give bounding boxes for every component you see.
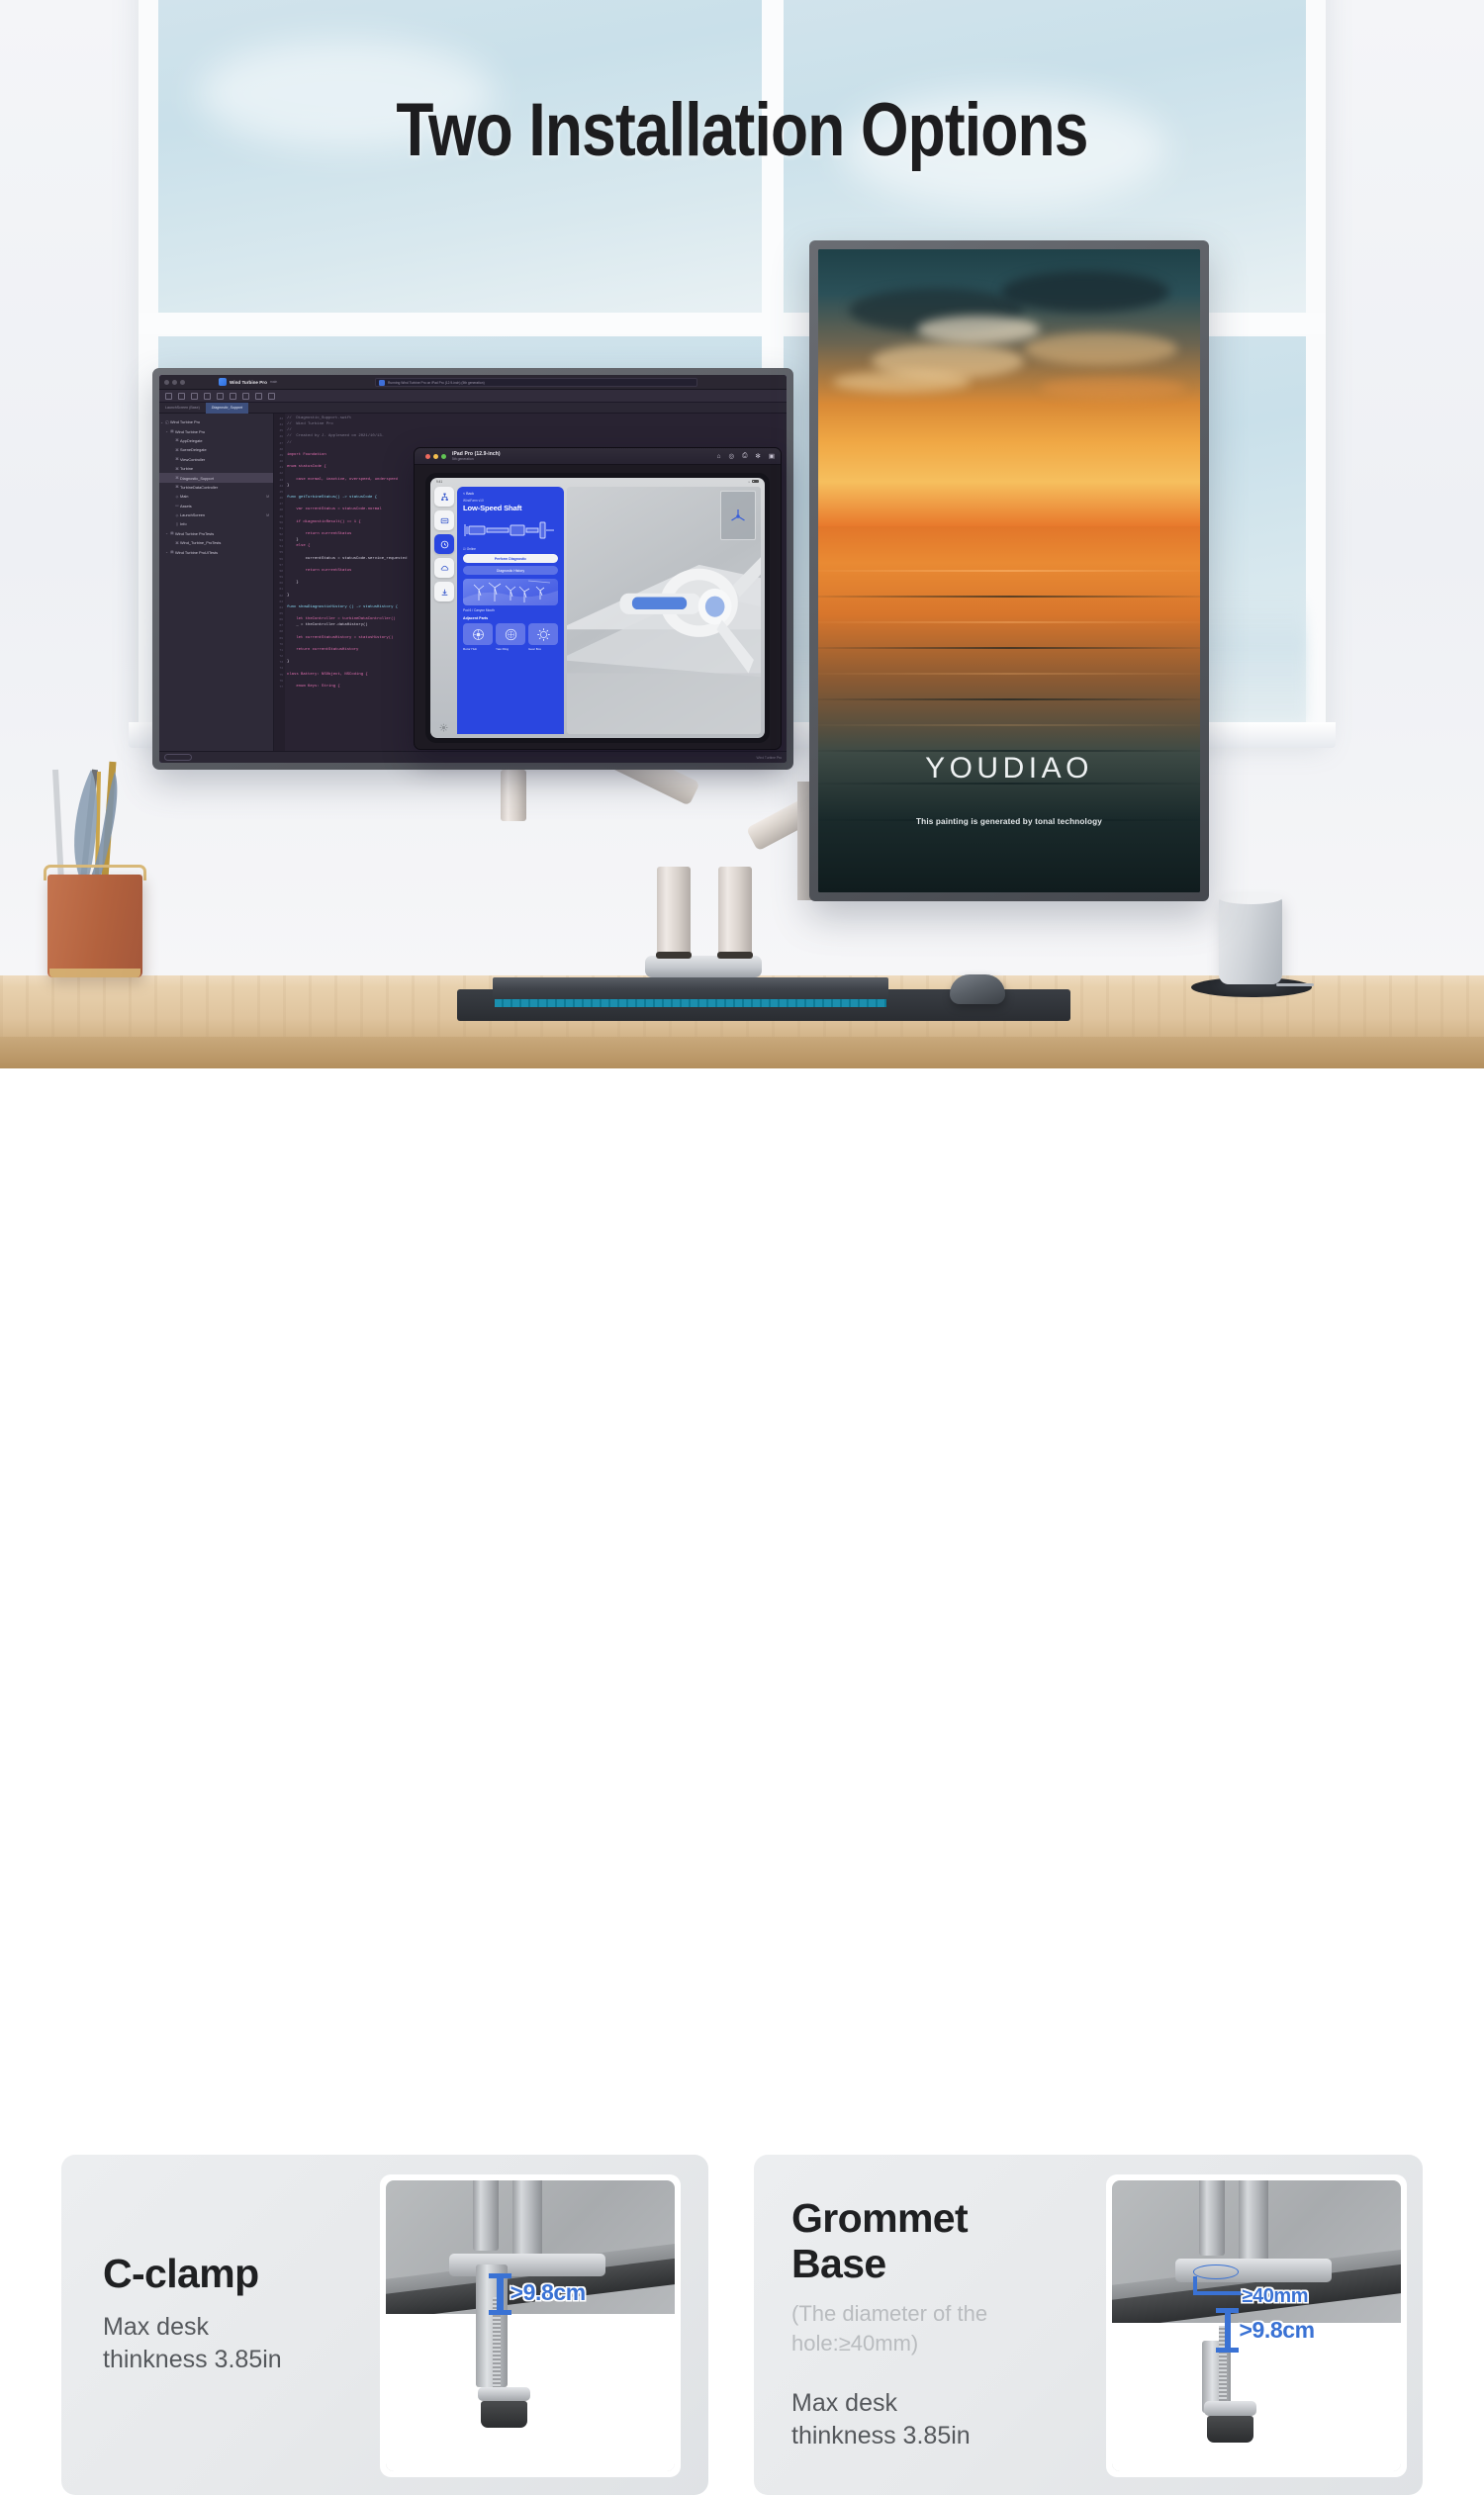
adjacent-parts-list: Rotor HubYaw RingGear Box — [463, 623, 558, 651]
part-label: Yaw Ring — [496, 647, 525, 651]
keyboard-accent-strip — [495, 999, 886, 1007]
breakpoint-icon[interactable] — [255, 393, 262, 400]
panel-kicker: WindFarm v10 — [463, 499, 558, 503]
mount-post-left — [1199, 2180, 1225, 2256]
cloud-icon — [440, 564, 449, 573]
tab-launchscreen[interactable]: LaunchScreen (Base) — [159, 403, 206, 414]
diagnostic-history-button[interactable]: Diagnostic History — [463, 566, 558, 575]
test-icon[interactable] — [230, 393, 236, 400]
install-options-section: C-clamp Max desk thinkness 3.85in >9.8cm… — [0, 1068, 1484, 1443]
mount-post-right — [718, 867, 752, 958]
gear-icon — [536, 627, 551, 642]
modified-badge: M — [266, 513, 269, 517]
navigator-row[interactable]: ◇MainM — [159, 492, 273, 501]
rail-button-clock[interactable] — [434, 534, 454, 554]
dimension-cap-top — [489, 2273, 511, 2278]
part-tile — [496, 623, 525, 645]
line-number-gutter: 3334353637383940414243444546474849505152… — [274, 414, 285, 751]
footer-file-label: Wind Turbine Pro — [757, 756, 782, 760]
more-icon[interactable]: ▣ — [769, 452, 775, 460]
adjacent-part-card[interactable]: Yaw Ring — [496, 623, 525, 651]
c-clamp-photo: >9.8cm — [380, 2174, 681, 2477]
desk-mug-rim — [1219, 891, 1282, 904]
page-title: Two Installation Options — [134, 87, 1350, 173]
navigator-row[interactable]: ⌄◱Wind Turbine Pro — [159, 417, 273, 426]
ios-clock: 9:41 — [436, 480, 442, 484]
library-icon[interactable] — [191, 393, 198, 400]
record-icon[interactable]: ⎙ — [742, 452, 747, 460]
navigator-row[interactable]: ◇LaunchScreenM — [159, 510, 273, 519]
app-side-rail — [434, 487, 454, 734]
debug-icon[interactable] — [242, 393, 249, 400]
ipad-bezel: 9:41 ⌁ — [425, 473, 770, 743]
clamp-pressure-plate — [1204, 2401, 1256, 2416]
line-number: 77 — [274, 684, 283, 690]
navigator-row[interactable]: ⌄▤Wind Turbine ProUITests — [159, 547, 273, 556]
navigator-row-label: Diagnostic_Support — [180, 476, 214, 481]
perform-diagnostic-button[interactable]: Perform Diagnostic — [463, 554, 558, 563]
navigator-row[interactable]: ⌘SceneDelegate — [159, 445, 273, 454]
navigator-row-label: LaunchScreen — [180, 512, 205, 517]
desk-edge — [0, 1037, 1484, 1068]
tab-diagnostic-support[interactable]: Diagnostic_Support — [206, 403, 248, 414]
portrait-brand-label: YOUDIAO — [818, 752, 1200, 785]
inbox-icon — [440, 516, 449, 525]
navigator-row[interactable]: ⌘AppDelegate — [159, 436, 273, 445]
battery-icon — [752, 480, 759, 483]
download-icon — [440, 588, 449, 597]
navigator-row-label: TurbineDataController — [180, 485, 218, 490]
screenshot-icon[interactable]: ◎ — [729, 452, 735, 460]
mount-post-right — [512, 2180, 541, 2256]
mount-collar-right — [717, 952, 753, 959]
navigator-row[interactable]: ⌘Turbine — [159, 464, 273, 473]
dimension-line-vertical — [1225, 2311, 1231, 2352]
window-traffic-lights[interactable] — [164, 380, 185, 385]
xcode-toolbar — [159, 390, 787, 403]
pencil-cup-foot — [49, 969, 140, 977]
xcode-status-text: Running Wind Turbine Pro on iPad Pro (12… — [388, 381, 485, 385]
navigator-row-label: Main — [180, 494, 188, 499]
mount-post-left — [473, 2180, 499, 2251]
dimension-cap-bottom — [1216, 2348, 1239, 2353]
ring-icon — [504, 627, 518, 642]
simulator-titlebar: iPad Pro (12.9-inch) 5th generation ⌂ ◎ … — [415, 448, 781, 465]
xcode-titlebar: Wind Turbine Pro main Running Wind Turbi… — [159, 375, 787, 390]
adjacent-parts-title: Adjacent Parts — [463, 616, 558, 620]
tab-label: LaunchScreen (Base) — [165, 406, 200, 410]
adjacent-part-card[interactable]: Rotor Hub — [463, 623, 493, 651]
grommet-note: (The diameter of the hole:≥40mm) — [791, 2299, 1088, 2359]
rail-button-download[interactable] — [434, 582, 454, 601]
c-clamp-body: Max desk thinkness 3.85in — [103, 2311, 390, 2376]
run-destination-icon — [379, 380, 385, 386]
mini-map-overlay[interactable] — [720, 491, 756, 540]
navigator-row-label: AppDelegate — [180, 438, 203, 443]
clamp-pressure-plate — [478, 2387, 530, 2402]
mount-base — [645, 956, 762, 977]
windfarm-thumbnail-icon — [463, 579, 558, 605]
navigator-row-label: Wind Turbine Pro — [175, 429, 205, 434]
grommet-clearance-label: >9.8cm — [1239, 2317, 1314, 2344]
settings-icon[interactable]: ✻ — [755, 452, 760, 460]
shaft-diagram-icon — [463, 517, 558, 543]
arm-riser-left — [501, 770, 526, 821]
hole-dimension-line — [1193, 2291, 1243, 2295]
hero-scene: Two Installation Options — [0, 0, 1484, 1068]
grommet-hole-label: ≥40mm — [1242, 2285, 1308, 2308]
portrait-screen: YOUDIAO This painting is generated by to… — [818, 249, 1200, 892]
mount-collar-left — [656, 952, 692, 959]
ios-status-right: ⌁ — [748, 480, 759, 484]
part-diagram — [463, 517, 558, 543]
wifi-icon: ⌁ — [748, 480, 750, 484]
filter-input[interactable] — [164, 754, 192, 761]
online-status: ☑ Online — [463, 547, 558, 551]
rail-button-inbox[interactable] — [434, 510, 454, 530]
navigator-row[interactable]: ⌄▤Wind Turbine Pro — [159, 426, 273, 435]
grommet-photo: ≥40mm >9.8cm — [1106, 2174, 1407, 2477]
navigator-row-label: Assets — [180, 504, 192, 508]
c-clamp-heading: C-clamp — [103, 2252, 390, 2297]
turbine-marker-icon — [730, 508, 746, 524]
rail-button-hierarchy[interactable] — [434, 487, 454, 507]
navigator-row-label: ViewController — [180, 457, 205, 462]
hub-icon — [471, 627, 486, 642]
simulator-device-generation: 5th generation — [452, 457, 501, 461]
clock-icon — [440, 540, 449, 549]
navigator-row-label: Wind Turbine ProTests — [175, 531, 214, 536]
xcode-status-footer: Wind Turbine Pro — [159, 751, 787, 763]
part-detail-panel: < Back WindFarm v10 Low-Speed Shaft — [457, 487, 564, 734]
simulator-window: iPad Pro (12.9-inch) 5th generation ⌂ ◎ … — [414, 447, 782, 750]
tab-label: Diagnostic_Support — [212, 406, 242, 410]
dimension-cap-bottom — [489, 2310, 511, 2315]
search-icon[interactable] — [204, 393, 211, 400]
part-label: Rotor Hub — [463, 647, 493, 651]
navigator-row[interactable]: ▭Assets — [159, 502, 273, 510]
desk-cable — [1276, 983, 1314, 986]
photo-white-backdrop — [1112, 2323, 1401, 2471]
simulator-traffic-lights[interactable] — [425, 454, 446, 459]
home-icon[interactable]: ⌂ — [717, 453, 721, 460]
dimension-cap-top — [1216, 2308, 1239, 2313]
grommet-hole-outline — [1193, 2264, 1240, 2279]
clamp-foot — [1207, 2416, 1253, 2442]
c-clamp-dimension-label: >9.8cm — [510, 2279, 586, 2306]
ocean-surface — [818, 526, 1200, 893]
desk-mug — [1219, 897, 1282, 984]
grommet-heading: Grommet Base — [791, 2196, 1088, 2287]
mouse[interactable] — [950, 974, 1005, 1004]
report-icon[interactable] — [268, 393, 275, 400]
dimension-line-vertical — [497, 2276, 503, 2314]
navigator-row-label: SceneDelegate — [180, 447, 207, 452]
navigator-row[interactable]: ⌘TurbineDataController — [159, 483, 273, 492]
warning-icon[interactable] — [217, 393, 224, 400]
site-thumbnail[interactable] — [463, 579, 558, 605]
portrait-tagline: This painting is generated by tonal tech… — [818, 817, 1200, 826]
navigator-row[interactable]: ▯Info — [159, 519, 273, 528]
clamp-foot — [481, 2401, 527, 2427]
navigator-row-label: Info — [180, 521, 187, 526]
portrait-monitor: YOUDIAO This painting is generated by to… — [809, 240, 1209, 901]
adjacent-part-card[interactable]: Gear Box — [528, 623, 558, 651]
cloud-layer — [818, 249, 1200, 526]
navigator-row[interactable]: ⌘Diagnostic_Support — [159, 473, 273, 482]
xcode-tab-bar: LaunchScreen (Base) Diagnostic_Support — [159, 403, 787, 414]
part-tile — [463, 623, 493, 645]
panel-heading: Low-Speed Shaft — [463, 504, 558, 512]
navigator-row-label: Wind_Turbine_ProTests — [180, 540, 221, 545]
navigator-row[interactable]: ⌘ViewController — [159, 455, 273, 464]
navigator-toggle-icon[interactable] — [165, 393, 172, 400]
project-navigator[interactable]: ⌄◱Wind Turbine Pro⌄▤Wind Turbine Pro⌘App… — [159, 414, 274, 751]
c-clamp-text-block: C-clamp Max desk thinkness 3.85in — [103, 2252, 390, 2376]
navigator-row[interactable]: ⌄▤Wind Turbine ProTests — [159, 529, 273, 538]
back-button[interactable]: < Back — [463, 492, 558, 496]
part-label: Gear Box — [528, 647, 558, 651]
inspector-toggle-icon[interactable] — [178, 393, 185, 400]
turbine-3d-render — [567, 487, 761, 734]
part-tile — [528, 623, 558, 645]
simulator-toolbar: ⌂ ◎ ⎙ ✻ ▣ — [717, 452, 775, 460]
thumbnail-caption: Pod 6 / Canyon Mouth — [463, 608, 558, 612]
xcode-branch-label: main — [270, 380, 277, 384]
mount-plate — [449, 2254, 605, 2277]
rail-button-cloud[interactable] — [434, 558, 454, 578]
navigator-row-label: Turbine — [180, 466, 193, 471]
pencil-cup — [47, 875, 142, 977]
xcode-status-bar: Running Wind Turbine Pro on iPad Pro (12… — [375, 378, 697, 387]
mount-post-right — [1239, 2180, 1267, 2262]
navigator-row[interactable]: ⌘Wind_Turbine_ProTests — [159, 538, 273, 547]
gear-icon[interactable] — [439, 723, 448, 732]
grommet-body: Max desk thinkness 3.85in — [791, 2387, 1088, 2452]
navigator-row-label: Wind Turbine ProUITests — [175, 550, 218, 555]
xcode-app-icon — [219, 378, 227, 386]
photo-white-backdrop — [386, 2314, 675, 2471]
mount-post-left — [657, 867, 691, 958]
grommet-text-block: Grommet Base (The diameter of the hole:≥… — [791, 2196, 1088, 2452]
ios-status-bar: 9:41 ⌁ — [430, 478, 765, 485]
ipad-screen: 9:41 ⌁ — [430, 478, 765, 738]
xcode-project-title: Wind Turbine Pro — [230, 380, 267, 385]
hierarchy-icon — [440, 493, 449, 502]
navigator-row-label: Wind Turbine Pro — [170, 419, 200, 424]
modified-badge: M — [266, 495, 269, 499]
